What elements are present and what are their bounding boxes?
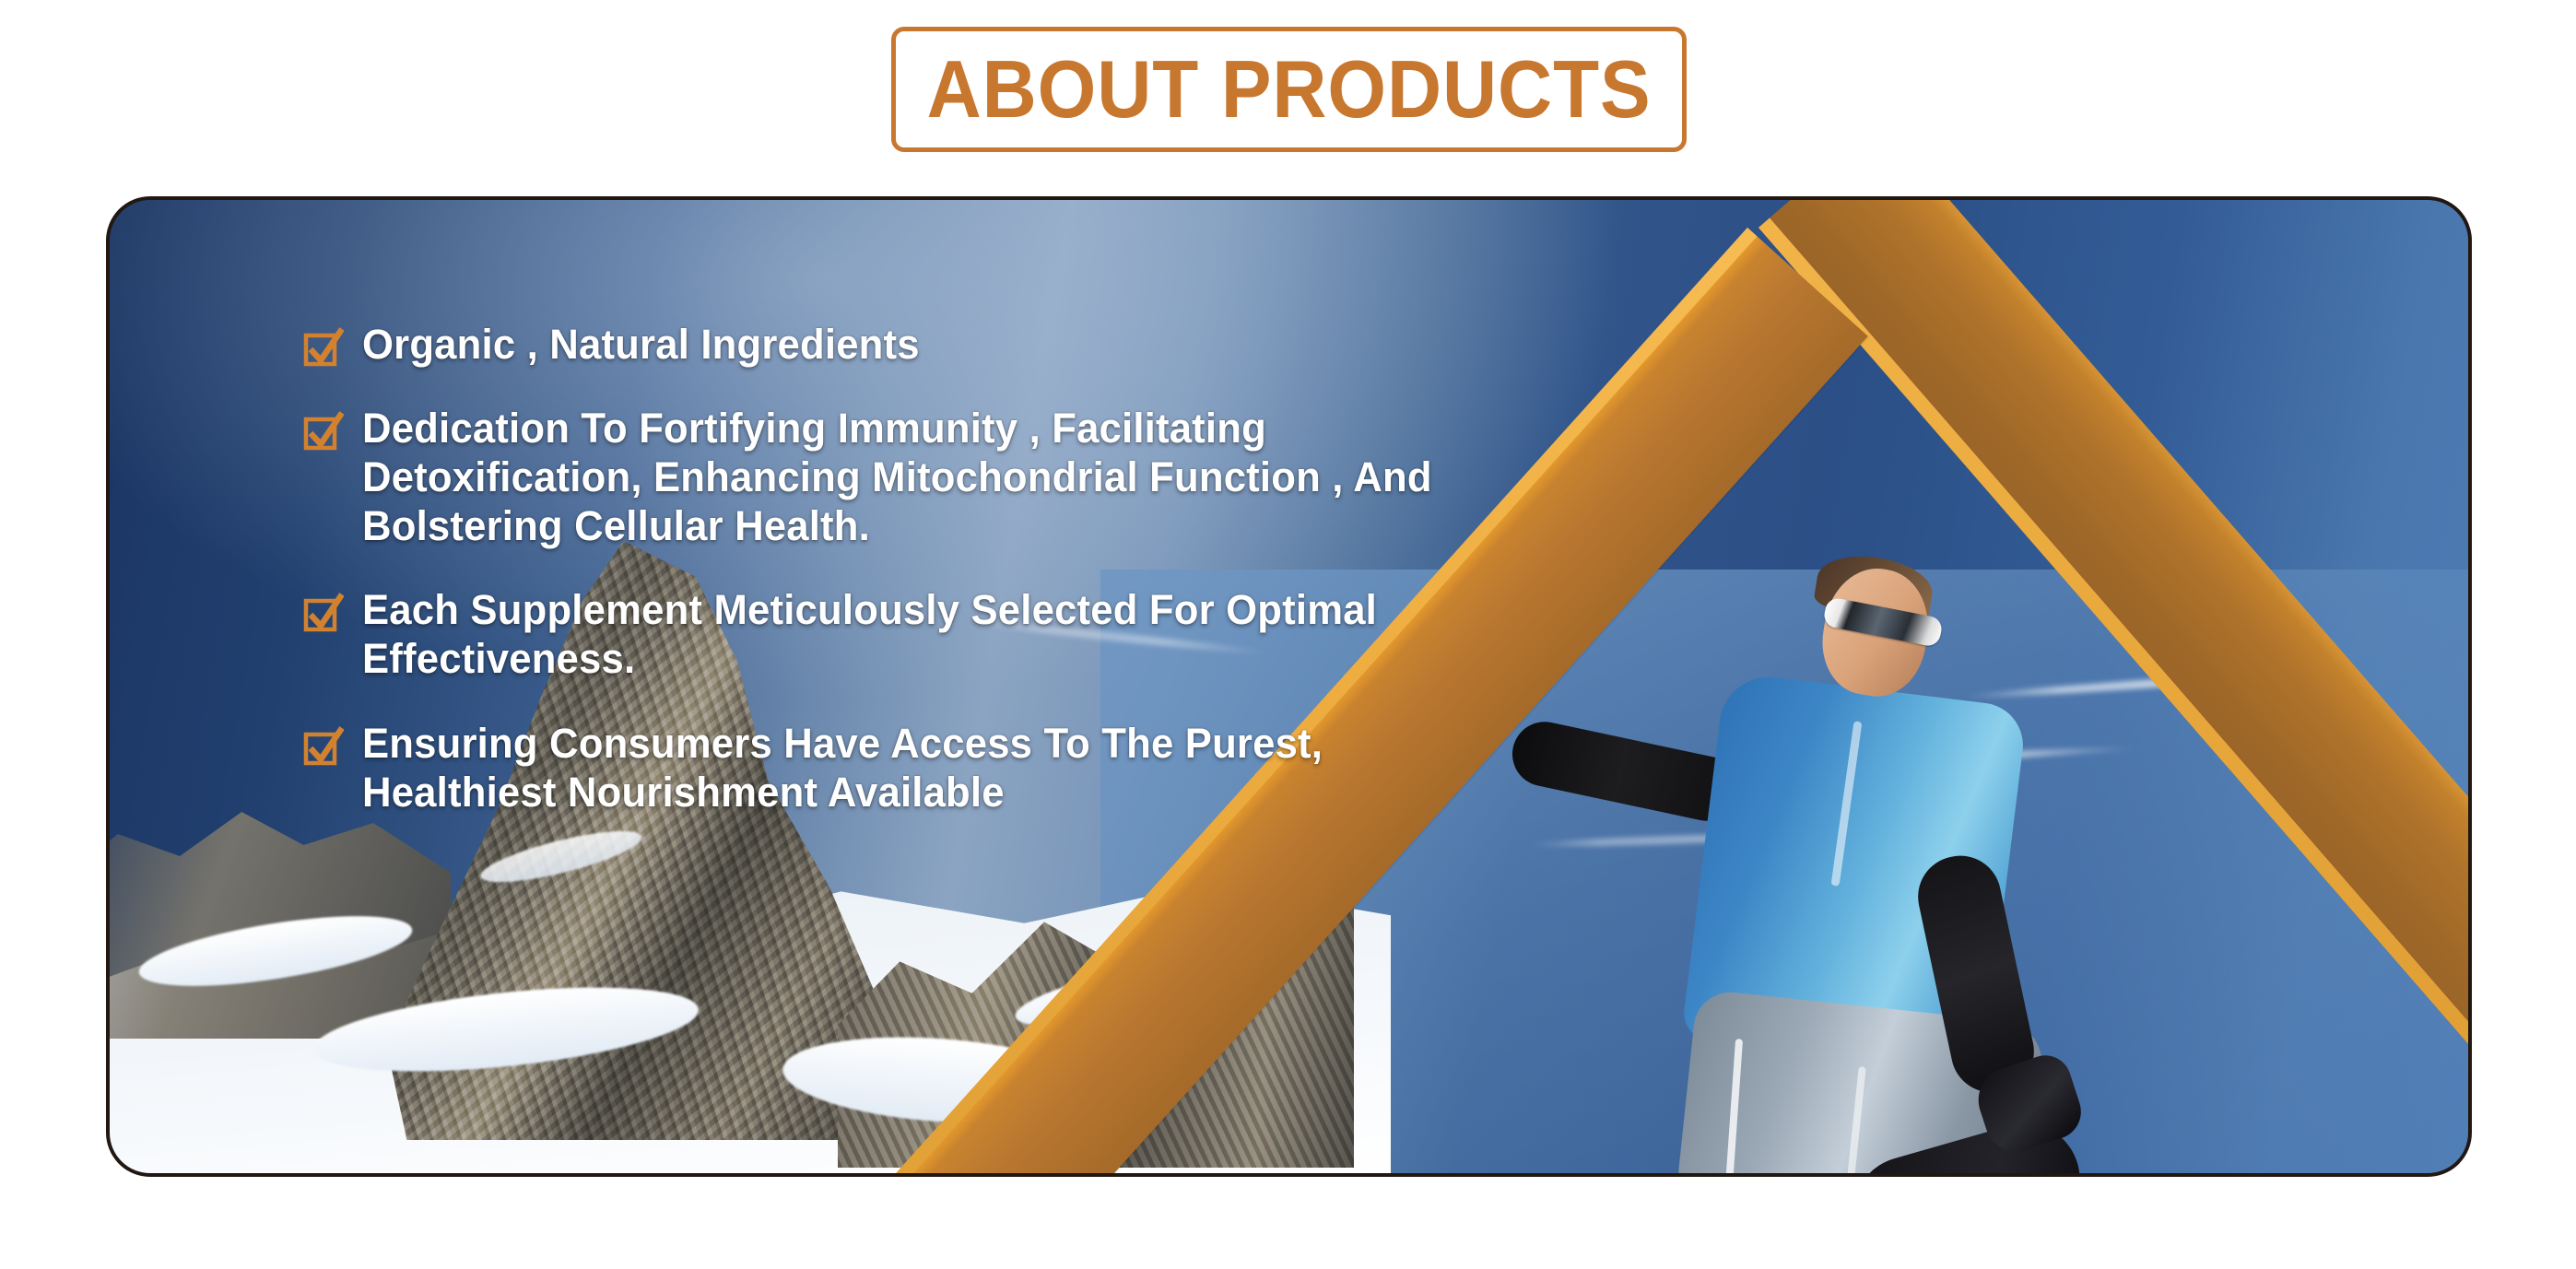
checkbox-checked-icon bbox=[303, 593, 344, 633]
about-products-title-badge: ABOUT PRODUCTS bbox=[891, 27, 1687, 152]
list-item: Ensuring Consumers Have Access To The Pu… bbox=[303, 719, 1501, 817]
checkbox-checked-icon bbox=[303, 327, 344, 368]
list-item-label: Each Supplement Meticulously Selected Fo… bbox=[362, 585, 1467, 683]
list-item: Each Supplement Meticulously Selected Fo… bbox=[303, 585, 1501, 683]
list-item-label: Ensuring Consumers Have Access To The Pu… bbox=[362, 719, 1467, 817]
list-item: Dedication To Fortifying Immunity , Faci… bbox=[303, 404, 1501, 550]
list-item-label: Organic , Natural Ingredients bbox=[362, 320, 920, 369]
list-item: Organic , Natural Ingredients bbox=[303, 320, 1501, 369]
checkbox-checked-icon bbox=[303, 726, 344, 767]
page-title: ABOUT PRODUCTS bbox=[927, 49, 1652, 130]
about-products-card: Organic , Natural Ingredients Dedication… bbox=[106, 196, 2472, 1177]
list-item-label: Dedication To Fortifying Immunity , Faci… bbox=[362, 404, 1467, 550]
checkbox-checked-icon bbox=[303, 411, 344, 452]
feature-bullet-list: Organic , Natural Ingredients Dedication… bbox=[303, 320, 1501, 817]
